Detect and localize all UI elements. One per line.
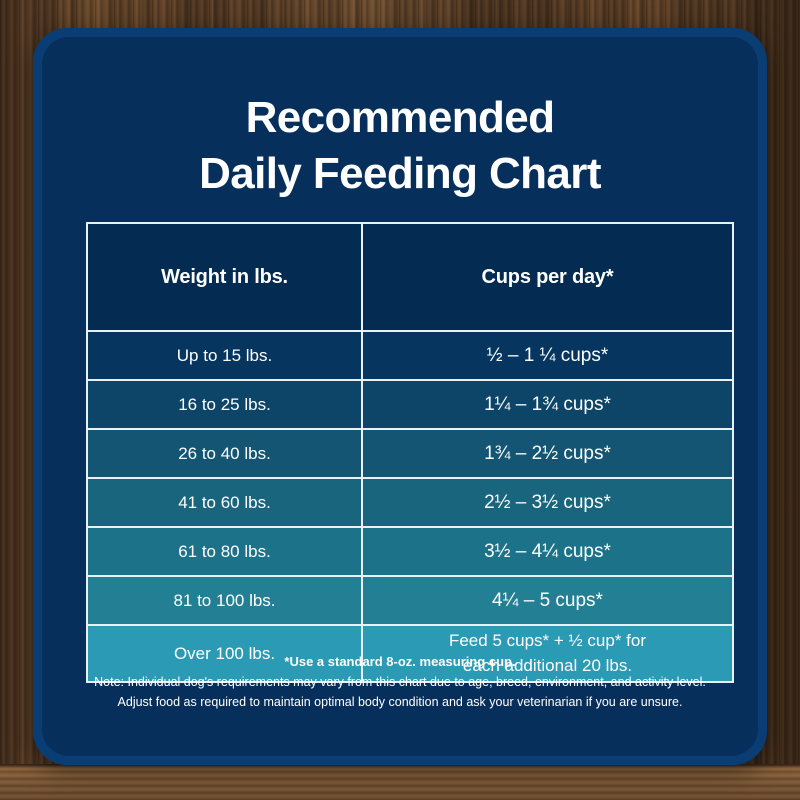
table-row: Up to 15 lbs. ½ – 1 ¼ cups* [87,331,733,380]
wood-background-bottom-edge [0,764,800,800]
column-header-weight: Weight in lbs. [87,223,362,331]
table-row: 81 to 100 lbs. 4¼ – 5 cups* [87,576,733,625]
cell-cups: 1¼ – 1¾ cups* [362,380,733,429]
table-row: 26 to 40 lbs. 1¾ – 2½ cups* [87,429,733,478]
footnote-measuring-cup: *Use a standard 8-oz. measuring cup. [66,654,734,669]
table-body: Up to 15 lbs. ½ – 1 ¼ cups* 16 to 25 lbs… [87,331,733,682]
cell-weight: 61 to 80 lbs. [87,527,362,576]
cell-cups: 4¼ – 5 cups* [362,576,733,625]
cell-weight: 41 to 60 lbs. [87,478,362,527]
card-inner-panel: Recommended Daily Feeding Chart Weight i… [42,37,758,756]
feeding-chart-table: Weight in lbs. Cups per day* Up to 15 lb… [86,222,734,683]
cell-cups: 1¾ – 2½ cups* [362,429,733,478]
table-row: 16 to 25 lbs. 1¼ – 1¾ cups* [87,380,733,429]
footnote-note-line-1: Note: Individual dog's requirements may … [66,673,734,692]
feeding-chart-card: Recommended Daily Feeding Chart Weight i… [33,28,767,765]
table-row: 61 to 80 lbs. 3½ – 4¼ cups* [87,527,733,576]
cell-cups: 2½ – 3½ cups* [362,478,733,527]
cell-weight: 81 to 100 lbs. [87,576,362,625]
footnotes: *Use a standard 8-oz. measuring cup. Not… [66,654,734,712]
page-title: Recommended Daily Feeding Chart [42,90,758,203]
cell-weight: 16 to 25 lbs. [87,380,362,429]
cell-cups: ½ – 1 ¼ cups* [362,331,733,380]
table-row: 41 to 60 lbs. 2½ – 3½ cups* [87,478,733,527]
table-header: Weight in lbs. Cups per day* [87,223,733,331]
cell-cups: 3½ – 4¼ cups* [362,527,733,576]
column-header-cups: Cups per day* [362,223,733,331]
cell-weight: Up to 15 lbs. [87,331,362,380]
footnote-note-line-2: Adjust food as required to maintain opti… [66,693,734,712]
cell-weight: 26 to 40 lbs. [87,429,362,478]
table-header-row: Weight in lbs. Cups per day* [87,223,733,331]
